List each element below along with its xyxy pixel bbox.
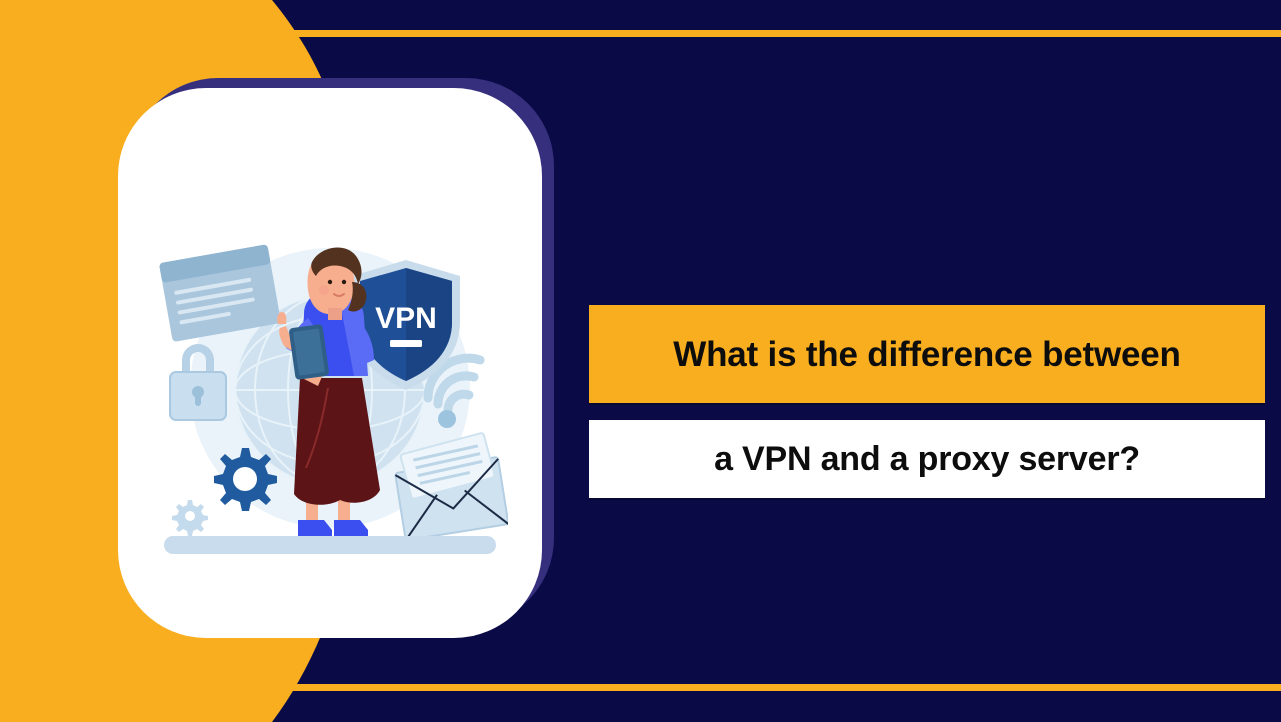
headline-line-1-text: What is the difference between bbox=[673, 337, 1180, 372]
top-yellow-rule bbox=[285, 30, 1281, 37]
headline-line-1: What is the difference between bbox=[589, 305, 1265, 403]
bottom-yellow-rule bbox=[285, 684, 1281, 691]
gear-small-icon bbox=[172, 500, 208, 536]
shield-label: VPN bbox=[375, 302, 437, 335]
gear-large-icon bbox=[214, 448, 277, 511]
banner-canvas: VPN bbox=[0, 0, 1281, 722]
illustration-card: VPN bbox=[118, 78, 554, 638]
ground-bar bbox=[164, 536, 496, 554]
vpn-illustration: VPN bbox=[152, 238, 508, 568]
card-surface: VPN bbox=[118, 88, 542, 638]
headline-line-2-text: a VPN and a proxy server? bbox=[714, 442, 1140, 476]
headline-line-2: a VPN and a proxy server? bbox=[589, 420, 1265, 498]
